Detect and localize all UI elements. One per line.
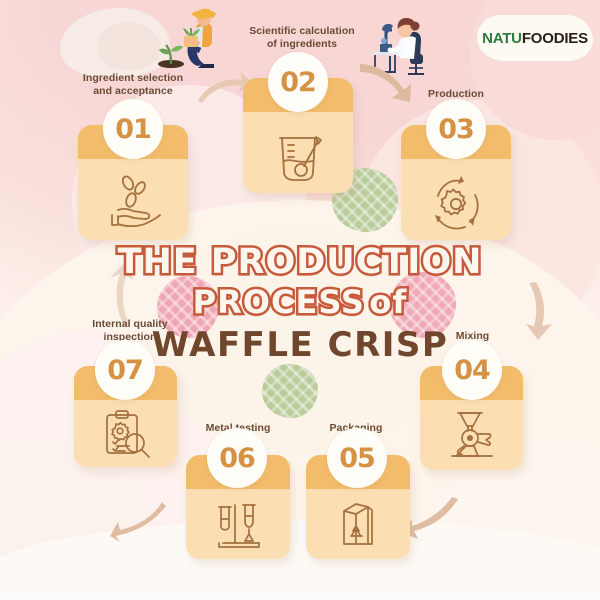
test-tubes-icon (186, 497, 290, 553)
beaker-spoon-icon (243, 124, 353, 187)
step-number-05: 05 (339, 443, 375, 474)
hand-seeds-icon (78, 171, 188, 234)
step-number-01: 01 (115, 114, 151, 145)
cloud-shape (98, 22, 160, 70)
step-badge-02: 02 (268, 52, 328, 112)
caption-step-02-line1: Scientific calculation (218, 25, 386, 38)
caption-step-02-line2: of ingredients (218, 38, 386, 51)
step-badge-01: 01 (103, 99, 163, 159)
clipboard-magnifier-icon (74, 406, 177, 461)
step-number-04: 04 (454, 355, 490, 386)
title-line-2: PROCESS of (0, 283, 600, 321)
title-line-1: THE PRODUCTION (0, 242, 600, 282)
step-badge-05: 05 (327, 428, 387, 488)
caption-step-07-line1: Internal quality (60, 318, 200, 331)
step-number-07: 07 (107, 355, 143, 386)
caption-step-01: Ingredient selection and acceptance (48, 72, 218, 98)
brand-name-part2: FOODIES (522, 30, 588, 47)
caption-step-01-line1: Ingredient selection (48, 72, 218, 85)
arrow-step6-to-step7 (108, 500, 170, 546)
step-number-06: 06 (219, 443, 255, 474)
package-bag-icon (306, 497, 410, 553)
step-number-02: 02 (280, 67, 316, 98)
infographic-poster: NATUFOODIES (0, 0, 600, 600)
step-badge-04: 04 (442, 340, 502, 400)
step-number-03: 03 (438, 114, 474, 145)
caption-step-01-line2: and acceptance (48, 85, 218, 98)
step-badge-03: 03 (426, 99, 486, 159)
background-blob (0, 520, 600, 600)
brand-name-part1: NATU (482, 30, 522, 47)
step-badge-06: 06 (207, 428, 267, 488)
waffle-cookie-pink (390, 272, 456, 338)
farmer-planting-illustration (152, 6, 224, 74)
grinder-icon (420, 408, 523, 464)
step-badge-07: 07 (95, 340, 155, 400)
caption-step-02: Scientific calculation of ingredients (218, 25, 386, 51)
bottom-strip (0, 590, 600, 600)
waffle-cookie-green (262, 364, 318, 418)
gear-cycle-icon (401, 171, 511, 234)
brand-logo[interactable]: NATUFOODIES (480, 18, 590, 58)
brand-logo-text: NATUFOODIES (482, 30, 588, 47)
